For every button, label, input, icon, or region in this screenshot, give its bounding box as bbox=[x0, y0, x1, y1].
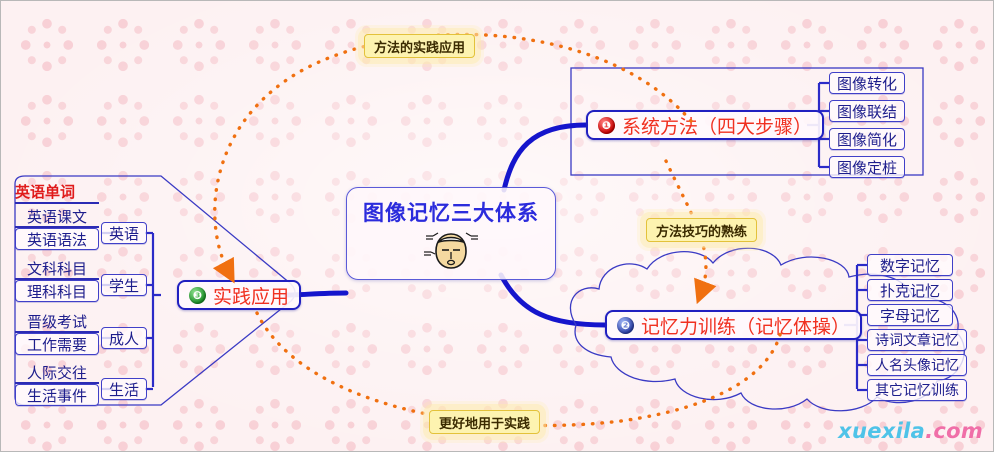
mindmap-canvas: 图像记忆三大体系 ❶ 系统方法（四大步骤） 图像转化 图像联结 图像简化 图像定… bbox=[0, 0, 994, 452]
callout-method-application: 方法的实践应用 bbox=[364, 34, 475, 58]
callout-skill-proficiency: 方法技巧的熟练 bbox=[646, 218, 757, 242]
cycle-arc-top bbox=[215, 34, 691, 273]
watermark-name: xuexila bbox=[838, 419, 925, 443]
cycle-arrow-layer bbox=[1, 1, 994, 452]
cycle-arc-bottom bbox=[257, 313, 781, 426]
callout-better-practice: 更好地用于实践 bbox=[429, 410, 540, 434]
site-watermark: xuexila.com bbox=[838, 419, 983, 443]
watermark-tld: .com bbox=[925, 419, 983, 443]
